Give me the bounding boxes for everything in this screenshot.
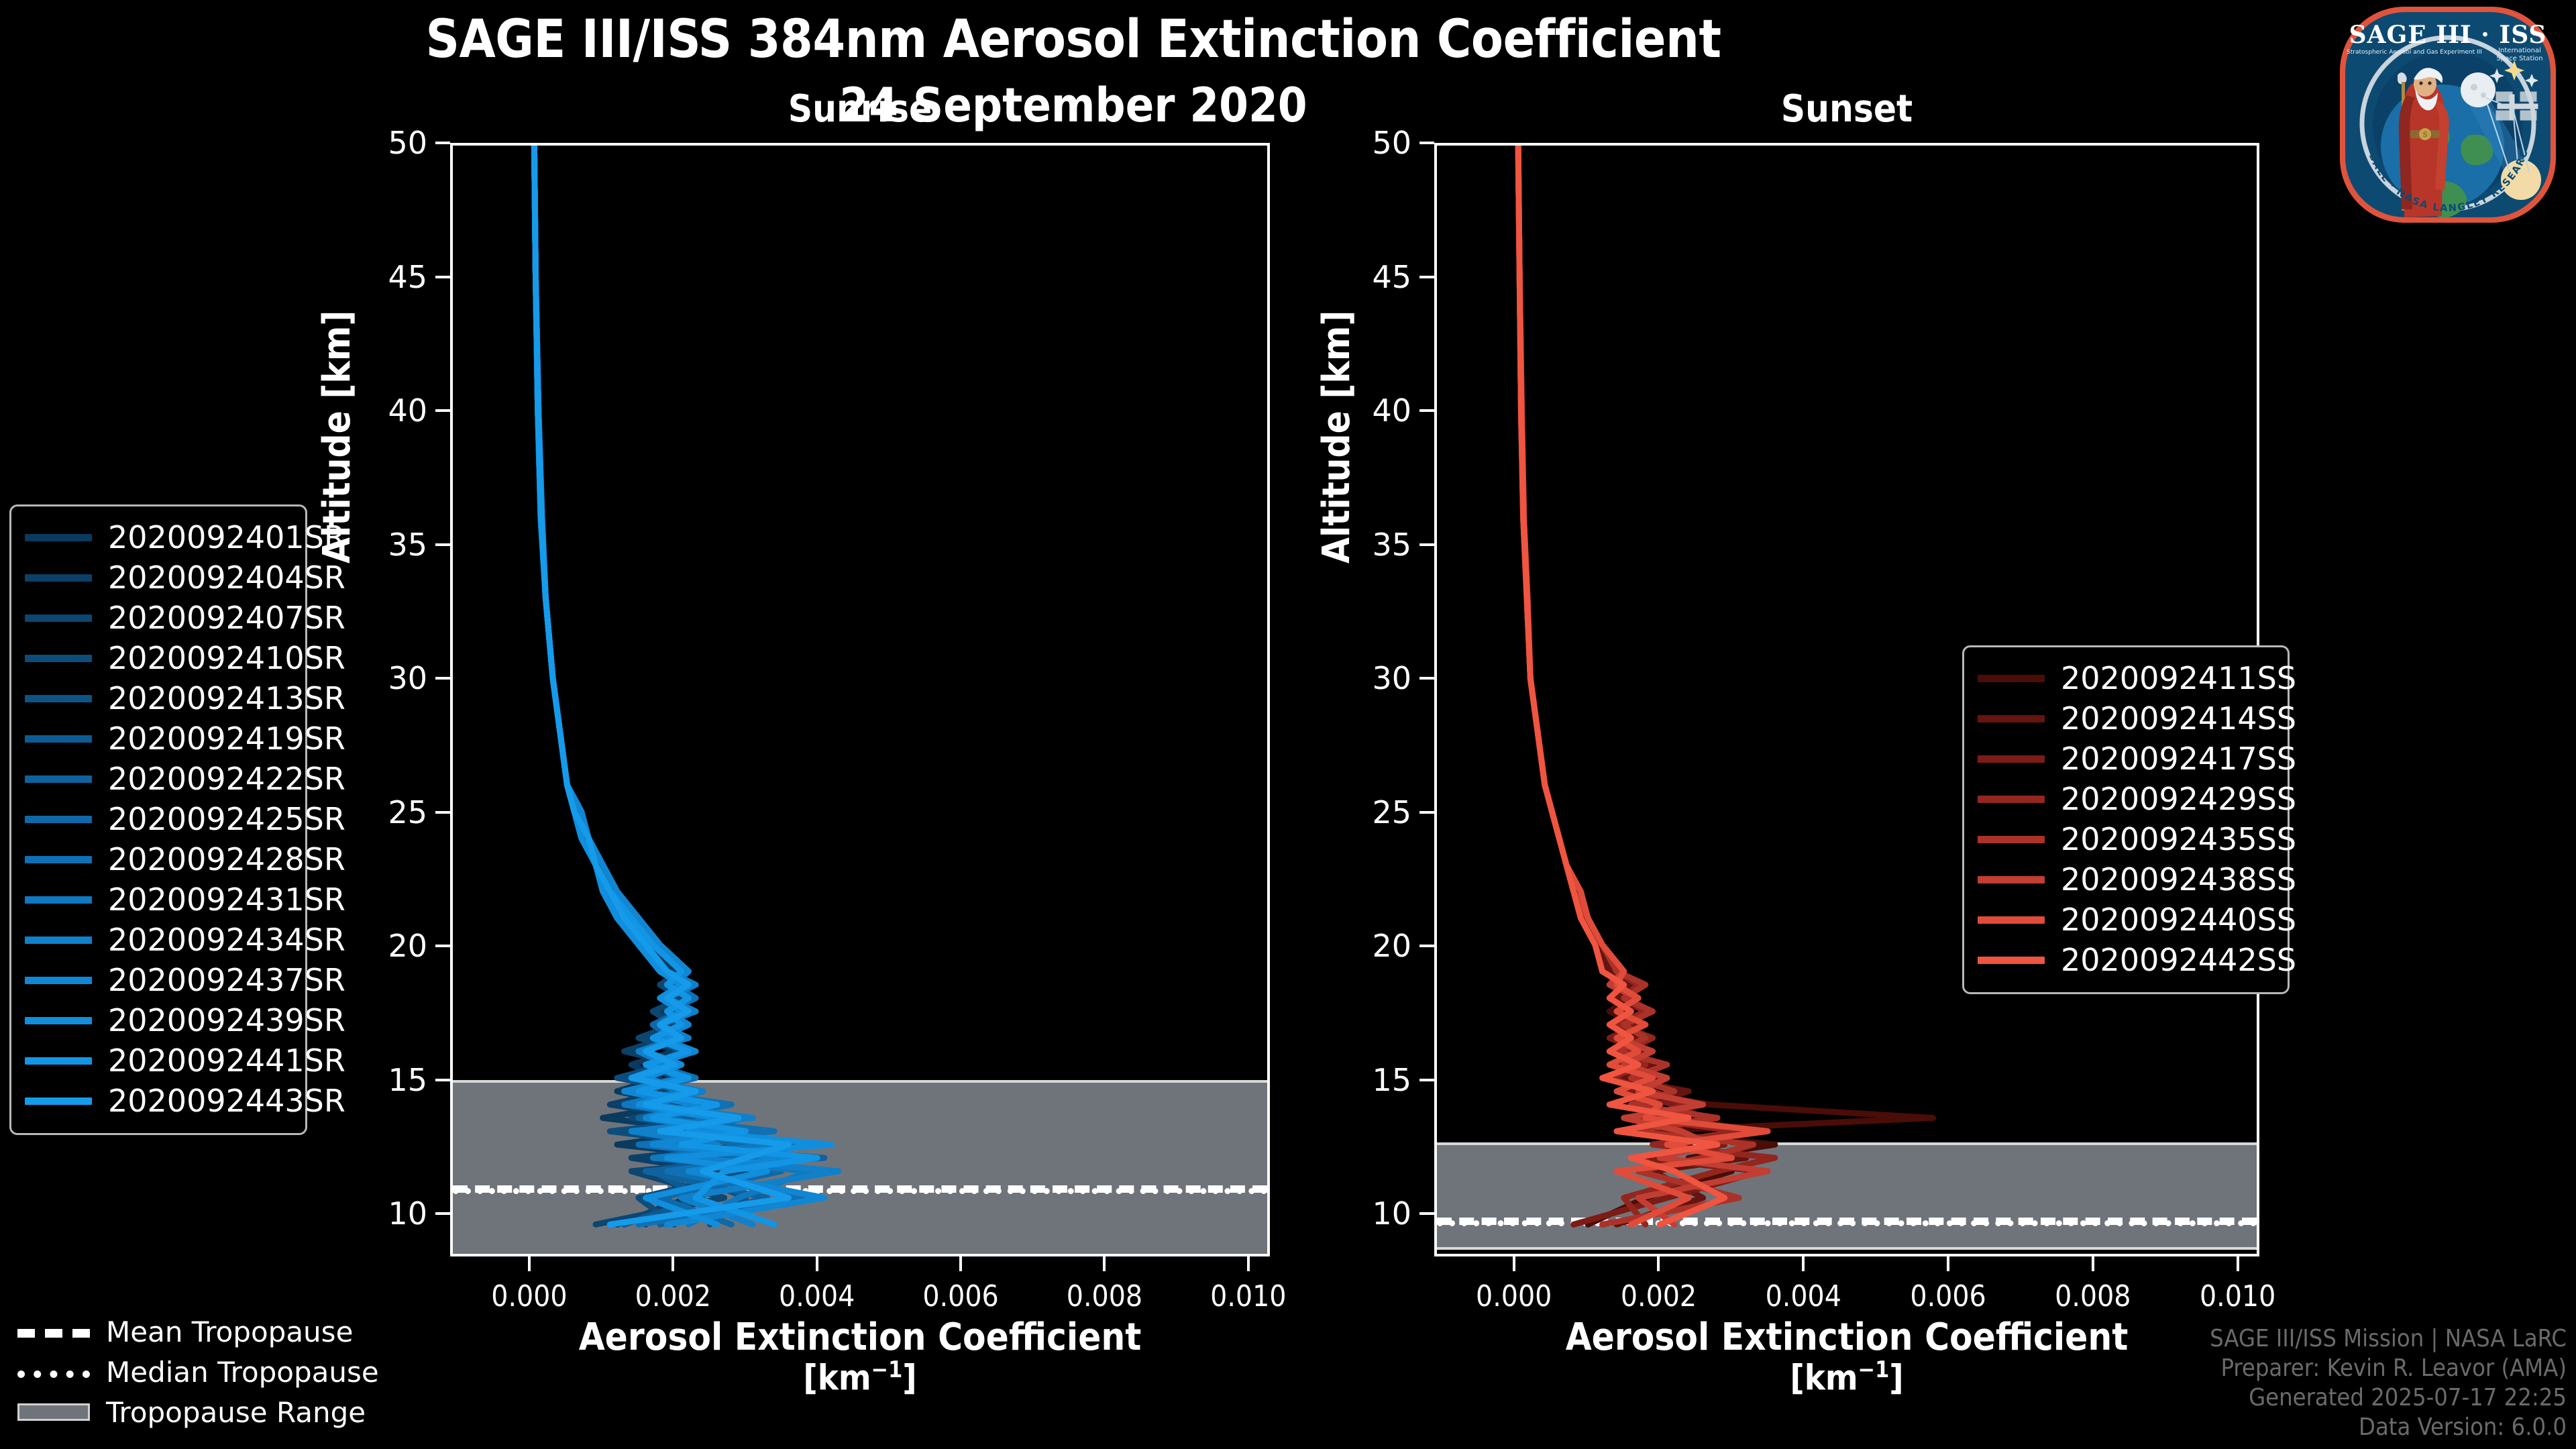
legend-item-label: 2020092438SS	[2061, 861, 2296, 898]
sunset-legend-item[interactable]: 2020092440SS	[1978, 900, 2273, 940]
legend-color-swatch	[25, 775, 92, 783]
legend-item-label: 2020092413SR	[108, 680, 345, 716]
credits-line-preparer: Preparer: Kevin R. Leavor (AMA)	[2210, 1354, 2567, 1383]
x-axis-tick-mark	[1103, 1256, 1106, 1271]
logo-subtitle-right-1: International	[2498, 47, 2541, 54]
legend-item-label: 2020092434SR	[108, 922, 345, 958]
profile-line	[1518, 146, 1775, 1224]
y-axis-tick-label: 45	[1372, 259, 1411, 295]
sunset-legend-item[interactable]: 2020092429SS	[1978, 779, 2273, 819]
legend-item-label: 2020092417SS	[2061, 741, 2296, 777]
sunrise-legend-item[interactable]: 2020092439SR	[25, 1000, 290, 1040]
legend-color-swatch	[25, 1057, 92, 1065]
profile-line	[534, 146, 831, 1224]
legend-item-label: 2020092428SR	[108, 841, 345, 877]
y-axis-tick-label: 35	[388, 527, 427, 563]
sunrise-legend-item[interactable]: 2020092434SR	[25, 920, 290, 960]
logo-title: SAGE III · ISS	[2349, 21, 2547, 49]
sunrise-legend-item[interactable]: 2020092422SR	[25, 759, 290, 799]
y-axis-tick-mark	[435, 276, 450, 278]
x-axis-tick-mark	[1657, 1256, 1660, 1271]
x-axis-tick-mark	[959, 1256, 962, 1271]
legend-item-label: 2020092419SR	[108, 720, 345, 757]
sunrise-legend-item[interactable]: 2020092401SR	[25, 517, 290, 557]
tropopause-key-label-mean: Mean Tropopause	[106, 1316, 353, 1348]
y-axis-tick-label: 40	[1372, 392, 1411, 429]
x-axis-tick-label: 0.006	[922, 1279, 998, 1313]
y-axis-tick-mark	[1419, 677, 1434, 680]
x-axis-tick-mark	[1247, 1256, 1250, 1271]
y-axis-tick-mark	[435, 1212, 450, 1215]
sunset-legend-item[interactable]: 2020092442SS	[1978, 940, 2273, 980]
x-axis-tick-mark	[2237, 1256, 2239, 1271]
legend-item-label: 2020092404SR	[108, 559, 345, 596]
legend-item-label: 2020092437SR	[108, 962, 345, 998]
sunset-legend-item[interactable]: 2020092411SS	[1978, 658, 2273, 698]
tropopause-key-row-mean[interactable]: Mean Tropopause	[17, 1311, 379, 1352]
legend-item-label: 2020092407SR	[108, 600, 345, 636]
panel-title-sunrise: Sunrise	[450, 87, 1270, 131]
sunrise-legend-item[interactable]: 2020092443SR	[25, 1081, 290, 1121]
sunrise-legend-item[interactable]: 2020092428SR	[25, 839, 290, 879]
x-axis-tick-mark	[1947, 1256, 1949, 1271]
sunrise-legend-item[interactable]: 2020092431SR	[25, 879, 290, 920]
y-axis-label-sunset: Altitude [km]	[1315, 311, 1358, 563]
x-axis-unit-sunset: [km−1]	[1434, 1358, 2259, 1397]
x-axis-label-sunrise: Aerosol Extinction Coefficient [km−1]	[450, 1318, 1270, 1397]
y-axis-tick-label: 35	[1372, 527, 1411, 563]
sunset-legend-item[interactable]: 2020092417SS	[1978, 739, 2273, 779]
y-axis-tick-mark	[1419, 1079, 1434, 1081]
legend-color-swatch	[25, 856, 92, 863]
y-axis-tick-mark	[435, 677, 450, 680]
y-axis-tick-label: 50	[388, 125, 427, 161]
credits-line-mission: SAGE III/ISS Mission | NASA LaRC	[2210, 1324, 2567, 1354]
legend-color-swatch	[1978, 836, 2045, 843]
y-axis-tick-mark	[1419, 142, 1434, 144]
legend-color-swatch	[25, 1017, 92, 1024]
legend-item-label: 2020092439SR	[108, 1002, 345, 1038]
sunrise-legend-item[interactable]: 2020092410SR	[25, 638, 290, 678]
sunrise-legend-item[interactable]: 2020092441SR	[25, 1040, 290, 1081]
legend-item-label: 2020092435SS	[2061, 821, 2296, 857]
sunrise-legend-item[interactable]: 2020092419SR	[25, 718, 290, 759]
y-axis-tick-mark	[435, 409, 450, 412]
legend-item-label: 2020092401SR	[108, 519, 345, 555]
legend-item-label: 2020092410SR	[108, 640, 345, 676]
legend-item-label: 2020092411SS	[2061, 660, 2296, 696]
dashed-line-icon	[17, 1323, 90, 1340]
y-axis-tick-label: 10	[1372, 1195, 1411, 1232]
profile-line	[1518, 146, 1933, 1224]
y-axis-tick-label: 40	[388, 392, 427, 429]
profile-curves-sunrise	[453, 146, 1267, 1254]
panel-title-sunset: Sunset	[1434, 87, 2259, 131]
legend-color-swatch	[25, 816, 92, 823]
legend-item-label: 2020092431SR	[108, 881, 345, 918]
legend-color-swatch	[25, 534, 92, 541]
sunrise-legend-item[interactable]: 2020092425SR	[25, 799, 290, 839]
x-axis-unit-sunrise: [km−1]	[450, 1358, 1270, 1397]
legend-item-label: 2020092440SS	[2061, 902, 2296, 938]
y-axis-tick-label: 20	[388, 928, 427, 964]
legend-color-swatch	[1978, 916, 2045, 924]
y-axis-tick-label: 25	[388, 794, 427, 830]
y-axis-tick-label: 25	[1372, 794, 1411, 830]
y-axis-tick-mark	[1419, 945, 1434, 947]
legend-color-swatch	[1978, 675, 2045, 682]
logo-subtitle-left: Stratospheric Aerosol and Gas Experiment…	[2347, 49, 2482, 56]
x-axis-tick-label: 0.004	[1766, 1279, 1841, 1313]
y-axis-tick-mark	[435, 142, 450, 144]
x-axis-label-text-sunrise: Aerosol Extinction Coefficient	[450, 1318, 1270, 1358]
legend-color-swatch	[25, 695, 92, 702]
y-axis-tick-mark	[1419, 409, 1434, 412]
y-axis-tick-label: 20	[1372, 928, 1411, 964]
legend-item-label: 2020092442SS	[2061, 942, 2296, 978]
svg-text:S: S	[2423, 131, 2428, 139]
profile-line	[534, 146, 839, 1224]
y-axis-tick-label: 10	[388, 1195, 427, 1232]
credits-line-version: Data Version: 6.0.0	[2210, 1413, 2567, 1442]
legend-color-swatch	[1978, 755, 2045, 763]
legend-item-label: 2020092414SS	[2061, 700, 2296, 737]
logo-subtitle-right-2: Space Station	[2496, 55, 2542, 62]
x-axis-tick-label: 0.010	[2200, 1279, 2275, 1313]
legend-color-swatch	[1978, 957, 2045, 964]
legend-item-label: 2020092425SR	[108, 801, 345, 837]
x-axis-tick-label: 0.008	[1067, 1279, 1142, 1313]
y-axis-tick-label: 45	[388, 259, 427, 295]
x-axis-tick-label: 0.008	[2055, 1279, 2131, 1313]
legend-color-swatch	[25, 1097, 92, 1105]
y-axis-tick-label: 30	[388, 660, 427, 696]
y-axis-tick-mark	[1419, 543, 1434, 546]
x-axis-tick-label: 0.006	[1910, 1279, 1986, 1313]
legend-color-swatch	[25, 574, 92, 582]
y-axis-tick-label: 15	[1372, 1062, 1411, 1098]
sunrise-legend-item[interactable]: 2020092407SR	[25, 598, 290, 638]
x-axis-label-sunset: Aerosol Extinction Coefficient [km−1]	[1434, 1318, 2259, 1397]
legend-color-swatch	[25, 735, 92, 743]
x-axis-tick-label: 0.010	[1210, 1279, 1286, 1313]
x-axis-tick-mark	[2092, 1256, 2094, 1271]
credits-line-generated: Generated 2025-07-17 22:25	[2210, 1383, 2567, 1413]
legend-item-label: 2020092422SR	[108, 761, 345, 797]
x-axis-tick-label: 0.004	[779, 1279, 855, 1313]
y-axis-tick-label: 30	[1372, 660, 1411, 696]
legend-color-swatch	[1978, 715, 2045, 722]
tropopause-key-label-range: Tropopause Range	[106, 1396, 366, 1429]
sunset-legend-item[interactable]: 2020092438SS	[1978, 859, 2273, 900]
x-axis-tick-mark	[1513, 1256, 1515, 1271]
legend-color-swatch	[1978, 876, 2045, 883]
legend-color-swatch	[25, 936, 92, 944]
x-axis-tick-mark	[816, 1256, 818, 1271]
tropopause-key-label-median: Median Tropopause	[106, 1356, 379, 1389]
tropopause-key[interactable]: Mean Tropopause Median Tropopause Tropop…	[17, 1311, 379, 1432]
y-axis-tick-mark	[435, 945, 450, 947]
x-axis-tick-label: 0.000	[1476, 1279, 1552, 1313]
y-axis-tick-mark	[435, 811, 450, 814]
sunrise-legend-item[interactable]: 2020092413SR	[25, 678, 290, 718]
y-axis-tick-mark	[435, 1079, 450, 1081]
x-axis-tick-mark	[1802, 1256, 1805, 1271]
x-axis-tick-mark	[672, 1256, 674, 1271]
legend-color-swatch	[25, 977, 92, 984]
x-axis-tick-label: 0.002	[1621, 1279, 1697, 1313]
page-title: SAGE III/ISS 384nm Aerosol Extinction Co…	[0, 9, 2147, 70]
tropopause-key-row-range[interactable]: Tropopause Range	[17, 1392, 379, 1432]
sunrise-legend-item[interactable]: 2020092404SR	[25, 557, 290, 598]
credits-block: SAGE III/ISS Mission | NASA LaRC Prepare…	[2210, 1324, 2567, 1442]
legend-sunset[interactable]: 2020092411SS2020092414SS2020092417SS2020…	[1962, 645, 2290, 994]
profile-line	[534, 146, 739, 1224]
sunrise-legend-item[interactable]: 2020092437SR	[25, 960, 290, 1000]
legend-item-label: 2020092443SR	[108, 1083, 345, 1119]
x-axis-tick-mark	[528, 1256, 531, 1271]
legend-color-swatch	[25, 614, 92, 622]
y-axis-tick-label: 15	[388, 1062, 427, 1098]
sage-iii-iss-mission-patch-logo: S SAGE III · ISS Stratospheric Aerosol a…	[2325, 4, 2571, 225]
legend-item-label: 2020092441SR	[108, 1042, 345, 1079]
y-axis-tick-mark	[1419, 1212, 1434, 1215]
x-axis-tick-label: 0.000	[491, 1279, 567, 1313]
y-axis-tick-mark	[1419, 811, 1434, 814]
sunset-legend-item[interactable]: 2020092435SS	[1978, 819, 2273, 859]
x-axis-tick-label: 0.002	[635, 1279, 711, 1313]
y-axis-tick-label: 50	[1372, 125, 1411, 161]
filled-box-icon	[17, 1403, 90, 1421]
sunset-legend-item[interactable]: 2020092414SS	[1978, 698, 2273, 739]
legend-color-swatch	[1978, 796, 2045, 803]
dotted-line-icon	[17, 1363, 90, 1381]
tropopause-key-row-median[interactable]: Median Tropopause	[17, 1352, 379, 1392]
legend-sunrise[interactable]: 2020092401SR2020092404SR2020092407SR2020…	[9, 504, 307, 1135]
x-axis-label-text-sunset: Aerosol Extinction Coefficient	[1434, 1318, 2259, 1358]
legend-color-swatch	[25, 655, 92, 662]
legend-color-swatch	[25, 896, 92, 904]
plot-area-sunrise[interactable]	[450, 143, 1270, 1256]
y-axis-tick-mark	[1419, 276, 1434, 278]
legend-item-label: 2020092429SS	[2061, 781, 2296, 817]
y-axis-tick-mark	[435, 543, 450, 546]
